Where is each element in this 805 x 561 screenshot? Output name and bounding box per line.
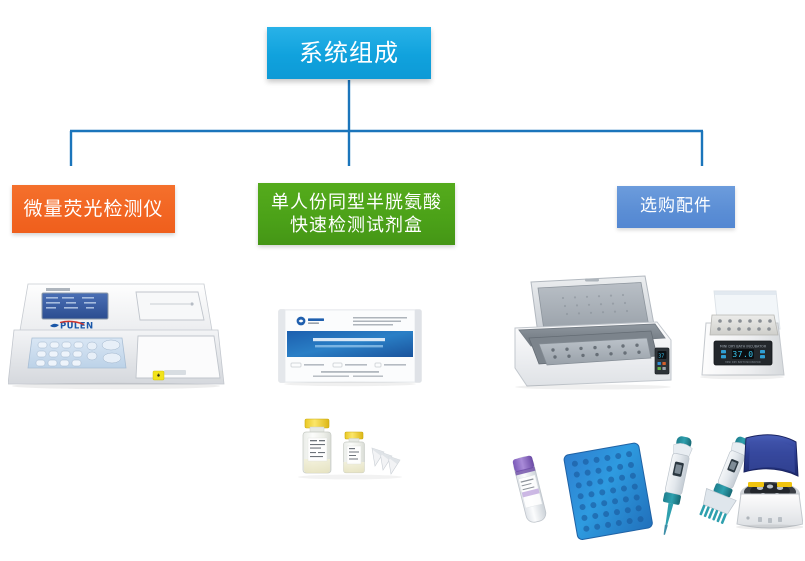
kit-label-line-2: 快速检测试剂盒 [258,214,455,237]
diagram-canvas: 系统组成 微量荧光检测仪 单人份同型半胱氨酸 快速检测试剂盒 选购配件 [0,0,805,561]
microplate-fluorescence-analyzer-photo: PULEN [8,268,230,390]
root-node-system-composition[interactable]: 系统组成 [267,27,431,79]
lab-consumables-photo [498,432,803,540]
branch-node-accessories-label: 选购配件 [617,196,735,218]
branch-node-analyzer-label: 微量荧光检测仪 [12,197,175,221]
water-bath-photo: 37 [505,270,680,390]
svg-text:MINI DRY BATH INCUBATOR: MINI DRY BATH INCUBATOR [720,345,767,349]
branch-node-reagent-kit[interactable]: 单人份同型半胱氨酸 快速检测试剂盒 [258,183,455,245]
dry-bath-incubator-photo: MINI DRY BATH INCUBATOR 37.0 MINI DRY BA… [692,285,792,385]
reagent-bottles-photo [292,412,410,484]
svg-text:MINI DRY BATH INCUBATOR: MINI DRY BATH INCUBATOR [725,360,761,364]
branch-node-analyzer[interactable]: 微量荧光检测仪 [12,185,175,233]
root-node-label: 系统组成 [267,38,431,69]
svg-text:PULEN: PULEN [60,322,93,332]
branch-node-accessories[interactable]: 选购配件 [617,186,735,228]
svg-text:37: 37 [658,353,664,359]
dry-bath-display-value: 37.0 [732,350,753,359]
branch-node-reagent-kit-label: 单人份同型半胱氨酸 快速检测试剂盒 [258,191,455,237]
kit-label-line-1: 单人份同型半胱氨酸 [258,191,455,214]
reagent-kit-box-photo [275,305,425,387]
